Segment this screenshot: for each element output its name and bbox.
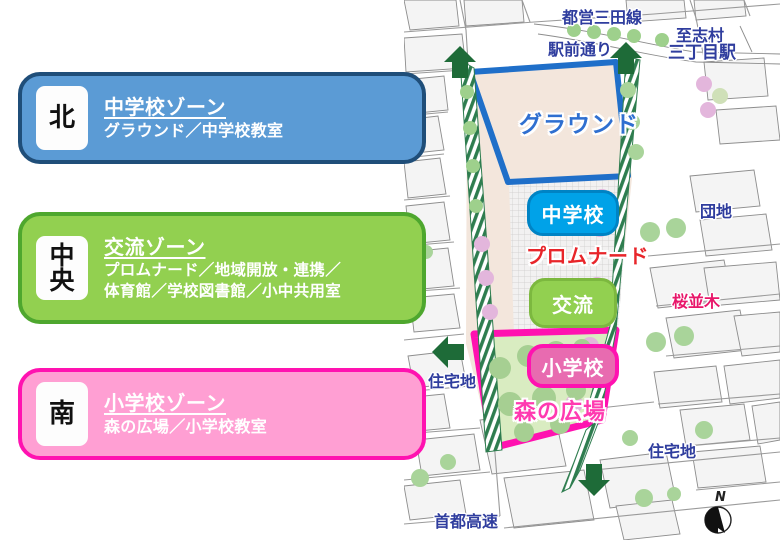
- map-label-sakura-namiki: 桜並木: [672, 288, 720, 312]
- legend-badge-center: 中 央: [36, 236, 88, 300]
- map-zone-pill-junior-high-label: 中学校: [542, 199, 605, 228]
- map-label-ground: グラウンド: [519, 105, 639, 139]
- legend-card-north[interactable]: 北 中学校ゾーン グラウンド／中学校教室: [18, 72, 426, 164]
- map-zone-pill-elementary-label: 小学校: [542, 352, 605, 381]
- legend-badge-south: 南: [36, 382, 88, 446]
- legend-subtitle-center-line2: 体育館／学校図書館／小中共用室: [104, 281, 341, 302]
- legend-badge-center-label-1: 中: [49, 243, 74, 268]
- legend-title-center: 交流ゾーン: [104, 235, 341, 260]
- map-label-jutakuchi-east: 住宅地: [648, 438, 696, 462]
- map-base-drawing: [404, 0, 780, 540]
- map-label-mita-line: 都営三田線: [562, 4, 642, 28]
- map-label-promenade: プロムナード: [495, 240, 680, 269]
- map-zone-pill-junior-high[interactable]: 中学校: [527, 190, 619, 236]
- map-zone-pill-exchange[interactable]: 交流: [529, 278, 617, 328]
- map-zone-pill-exchange-label: 交流: [552, 289, 594, 318]
- legend-card-south[interactable]: 南 小学校ゾーン 森の広場／小学校教室: [18, 368, 426, 460]
- legend-badge-south-label: 南: [49, 401, 75, 427]
- compass-north-letter: N: [715, 490, 726, 505]
- diagram-root: グラウンド 森の広場 プロムナード 都営三田線 至志村 駅前通り 三丁目駅 団地…: [0, 0, 780, 540]
- map-label-mori-no-hiroba: 森の広場: [514, 394, 606, 426]
- legend-subtitle-center-line1: プロムナード／地域開放・連携／: [104, 260, 341, 281]
- legend-text-south: 小学校ゾーン 森の広場／小学校教室: [104, 391, 267, 438]
- legend-subtitle-south: 森の広場／小学校教室: [104, 416, 267, 438]
- map-zone-pill-elementary[interactable]: 小学校: [527, 344, 619, 388]
- legend-card-center[interactable]: 中 央 交流ゾーン プロムナード／地域開放・連携／ 体育館／学校図書館／小中共用…: [18, 212, 426, 324]
- site-map[interactable]: [404, 0, 780, 540]
- legend-text-north: 中学校ゾーン グラウンド／中学校教室: [104, 95, 283, 142]
- map-label-danchi: 団地: [700, 198, 732, 222]
- map-label-ekimae-dori: 駅前通り: [548, 36, 612, 60]
- legend-text-center: 交流ゾーン プロムナード／地域開放・連携／ 体育館／学校図書館／小中共用室: [104, 235, 341, 302]
- map-label-jutakuchi-west: 住宅地: [428, 368, 476, 392]
- compass-rose: N: [700, 492, 742, 536]
- legend-subtitle-north: グラウンド／中学校教室: [104, 120, 283, 142]
- legend-title-north: 中学校ゾーン: [104, 95, 283, 120]
- legend-badge-north-label: 北: [49, 105, 75, 131]
- map-label-sanchome-station: 三丁目駅: [668, 38, 736, 63]
- legend-badge-center-label-2: 央: [49, 268, 74, 293]
- legend-title-south: 小学校ゾーン: [104, 391, 267, 416]
- legend-badge-north: 北: [36, 86, 88, 150]
- map-label-shuto-kosoku: 首都高速: [434, 508, 498, 532]
